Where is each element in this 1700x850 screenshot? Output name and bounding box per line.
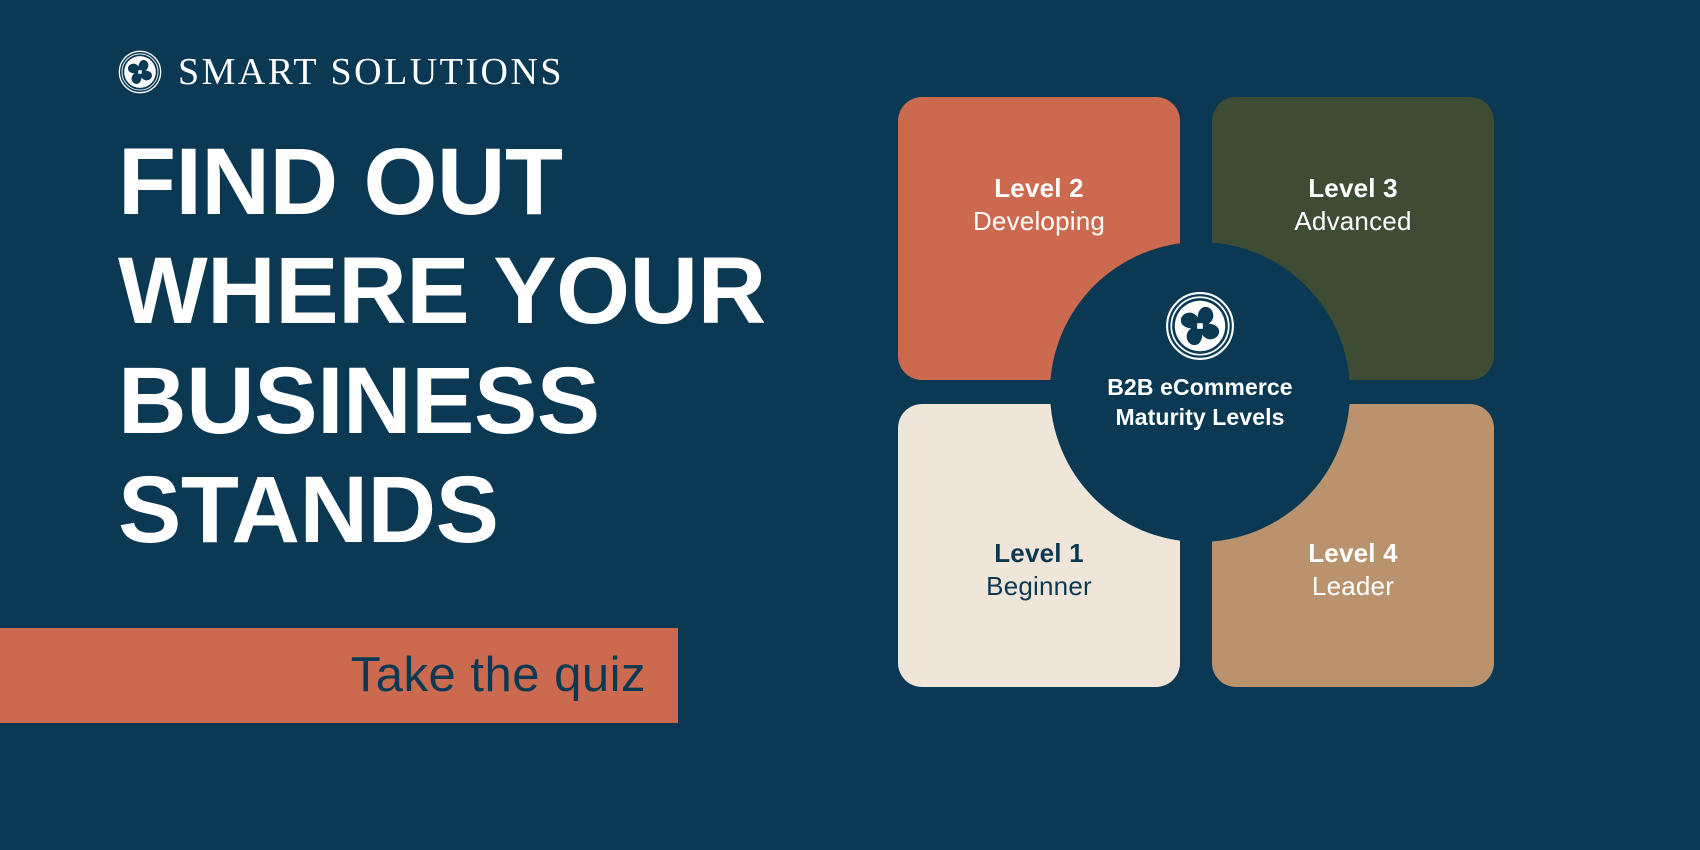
- maturity-card-level-3-name: Advanced: [1212, 205, 1494, 238]
- headline-line-4: STANDS: [118, 456, 858, 565]
- hub-smart-solutions-pinwheel-emblem-icon: [1165, 291, 1235, 361]
- cta-label: Take the quiz: [351, 651, 678, 700]
- maturity-card-level-3-text: Level 3 Advanced: [1212, 97, 1494, 238]
- headline-line-1: FIND OUT: [118, 128, 858, 237]
- maturity-card-level-1-name: Beginner: [898, 570, 1180, 603]
- headline-line-3: BUSINESS: [118, 347, 858, 456]
- maturity-card-level-3-level: Level 3: [1212, 173, 1494, 205]
- maturity-card-level-1-level: Level 1: [898, 538, 1180, 570]
- headline-line-2: WHERE YOUR: [118, 237, 858, 346]
- page-title: FIND OUT WHERE YOUR BUSINESS STANDS: [118, 128, 858, 565]
- hub-caption-line-1: B2B eCommerce: [1107, 373, 1292, 403]
- left-content-pane: SMART SOLUTIONS FIND OUT WHERE YOUR BUSI…: [0, 0, 880, 850]
- maturity-card-level-2-text: Level 2 Developing: [898, 97, 1180, 238]
- take-the-quiz-button[interactable]: Take the quiz: [0, 628, 678, 723]
- hub-caption-line-2: Maturity Levels: [1107, 403, 1292, 433]
- brand-lockup: SMART SOLUTIONS: [118, 50, 564, 94]
- maturity-card-level-2-level: Level 2: [898, 173, 1180, 205]
- hub-caption: B2B eCommerce Maturity Levels: [1107, 373, 1292, 433]
- maturity-hub: B2B eCommerce Maturity Levels: [1061, 253, 1339, 531]
- smart-solutions-pinwheel-emblem-icon: [118, 50, 162, 94]
- maturity-card-level-2-name: Developing: [898, 205, 1180, 238]
- maturity-levels-diagram: Level 2 Developing Level 3 Advanced Leve…: [898, 97, 1502, 687]
- maturity-card-level-4-level: Level 4: [1212, 538, 1494, 570]
- promo-banner: SMART SOLUTIONS FIND OUT WHERE YOUR BUSI…: [0, 0, 1700, 850]
- maturity-card-level-4-name: Leader: [1212, 570, 1494, 603]
- brand-wordmark: SMART SOLUTIONS: [178, 53, 564, 91]
